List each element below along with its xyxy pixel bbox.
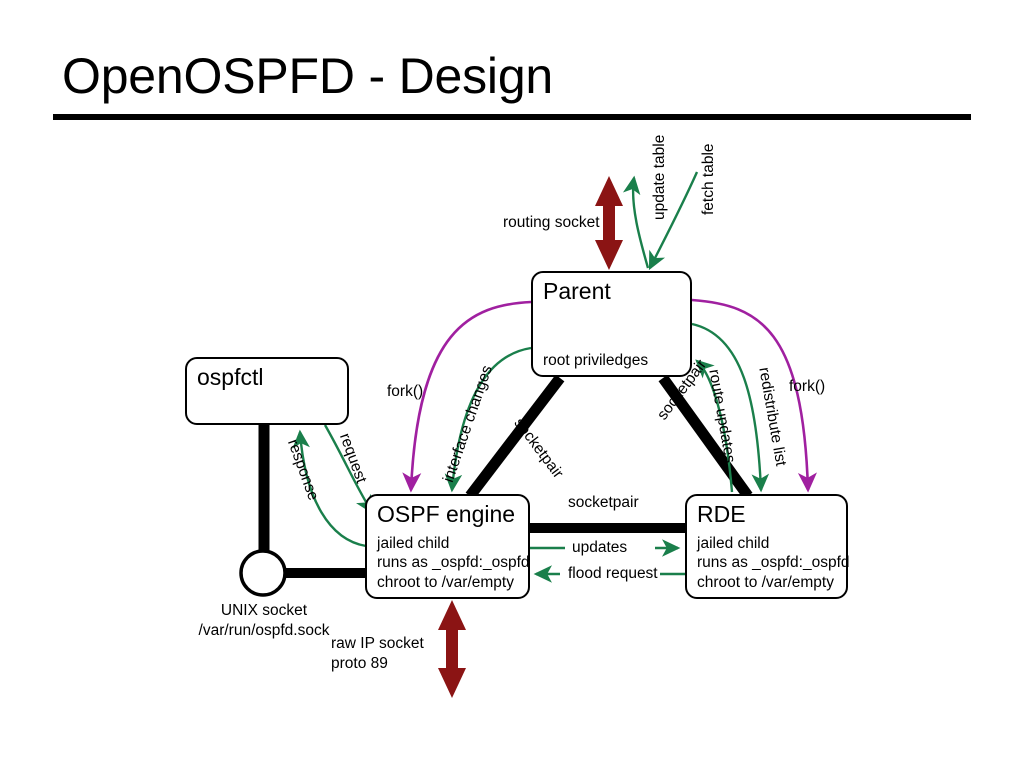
node-ospf-engine[interactable]: OSPF engine jailed child runs as _ospfd:…	[365, 494, 530, 599]
caption-raw-ip-socket-line: raw IP socket	[331, 634, 424, 654]
node-rde-line: jailed child	[697, 534, 850, 554]
edge-label-fork-right: fork()	[789, 378, 825, 396]
node-ospf-engine-line: jailed child	[377, 534, 530, 554]
node-ospf-engine-title: OSPF engine	[377, 500, 515, 528]
edge-label-flood-request: flood request	[568, 565, 658, 583]
node-ospfctl[interactable]: ospfctl	[185, 357, 349, 425]
node-rde[interactable]: RDE jailed child runs as _ospfd:_ospfd c…	[685, 494, 848, 599]
caption-unix-socket-line: /var/run/ospfd.sock	[188, 621, 340, 641]
caption-unix-socket-line: UNIX socket	[188, 601, 340, 621]
node-rde-line: runs as _ospfd:_ospfd	[697, 553, 850, 573]
node-ospf-engine-details: jailed child runs as _ospfd:_ospfd chroo…	[377, 534, 530, 593]
node-ospf-engine-line: runs as _ospfd:_ospfd	[377, 553, 530, 573]
edge-label-update-table: update table	[651, 135, 669, 220]
caption-unix-socket: UNIX socket /var/run/ospfd.sock	[188, 601, 340, 641]
edge-label-routing-socket: routing socket	[503, 214, 600, 232]
node-parent-title: Parent	[543, 277, 611, 305]
raw-ip-socket-arrow	[438, 600, 466, 698]
node-parent-details: root priviledges	[543, 351, 648, 371]
node-rde-details: jailed child runs as _ospfd:_ospfd chroo…	[697, 534, 850, 593]
architecture-diagram	[0, 0, 1024, 768]
node-ospfctl-title: ospfctl	[197, 363, 263, 391]
node-rde-title: RDE	[697, 500, 746, 528]
edge-label-updates: updates	[572, 539, 627, 557]
edge-label-fork-left: fork()	[387, 383, 423, 401]
node-parent-line: root priviledges	[543, 351, 648, 371]
caption-raw-ip-socket: raw IP socket proto 89	[331, 634, 424, 674]
edge-label-fetch-table: fetch table	[700, 143, 718, 215]
node-rde-line: chroot to /var/empty	[697, 573, 850, 593]
update-table-arrow	[633, 178, 648, 268]
caption-raw-ip-socket-line: proto 89	[331, 654, 424, 674]
slide: OpenOSPFD - Design	[0, 0, 1024, 768]
edge-label-socketpair-bottom: socketpair	[568, 494, 639, 512]
node-parent[interactable]: Parent root priviledges	[531, 271, 692, 377]
node-ospf-engine-line: chroot to /var/empty	[377, 573, 530, 593]
